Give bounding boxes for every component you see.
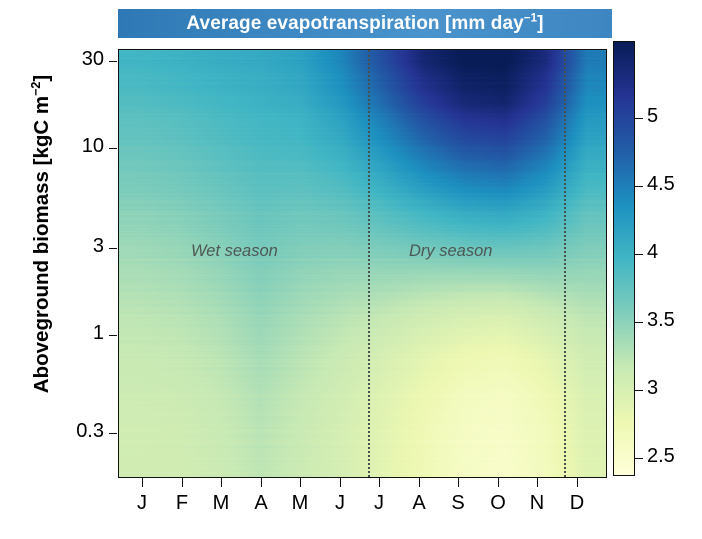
plot-title-main: Average evapotranspiration [mm day: [186, 13, 523, 34]
y-tick-label-30: 30: [30, 48, 104, 71]
x-tick-mark-9: [498, 478, 499, 487]
x-tick-mark-7: [419, 478, 420, 487]
colorbar-tick-label-3.5: 3.5: [647, 309, 675, 332]
heatmap-canvas: [119, 50, 606, 477]
x-tick-mark-1: [182, 478, 183, 487]
x-tick-label-1: F: [167, 492, 197, 515]
x-tick-mark-8: [458, 478, 459, 487]
y-tick-label-3: 3: [30, 235, 104, 258]
colorbar-tick-mark-4: [635, 254, 643, 255]
x-tick-label-4: M: [285, 492, 315, 515]
y-tick-mark-0.3: [109, 433, 117, 434]
plot-title-banner: Average evapotranspiration [mm day−1]: [118, 9, 612, 38]
x-tick-mark-2: [221, 478, 222, 487]
colorbar-panel: [613, 41, 635, 476]
y-tick-label-10: 10: [30, 135, 104, 158]
heatmap-panel: Wet seasonDry season: [118, 49, 607, 478]
plot-title-exponent: −1: [524, 12, 537, 24]
colorbar-canvas: [614, 42, 634, 475]
x-tick-label-5: J: [325, 492, 355, 515]
x-tick-label-0: J: [127, 492, 157, 515]
colorbar-tick-label-3: 3: [647, 377, 658, 400]
x-tick-label-10: N: [522, 492, 552, 515]
x-tick-label-6: J: [364, 492, 394, 515]
dry-wet-divider: [564, 50, 566, 477]
x-tick-label-9: O: [483, 492, 513, 515]
plot-title-tail: ]: [537, 13, 543, 34]
colorbar-tick-label-5: 5: [647, 105, 658, 128]
x-tick-label-2: M: [206, 492, 236, 515]
x-tick-mark-6: [379, 478, 380, 487]
colorbar-tick-mark-4.5: [635, 186, 643, 187]
x-tick-mark-3: [261, 478, 262, 487]
y-tick-label-1: 1: [30, 322, 104, 345]
colorbar-tick-label-4.5: 4.5: [647, 173, 675, 196]
y-tick-mark-10: [109, 148, 117, 149]
y-axis-label-exponent: −2: [29, 82, 43, 96]
wet-dry-divider: [368, 50, 370, 477]
dry-season-label: Dry season: [409, 242, 492, 261]
x-tick-label-3: A: [246, 492, 276, 515]
colorbar-tick-mark-3.5: [635, 322, 643, 323]
y-tick-mark-3: [109, 248, 117, 249]
colorbar-tick-mark-2.5: [635, 458, 643, 459]
colorbar-tick-label-2.5: 2.5: [647, 445, 675, 468]
colorbar-tick-label-4: 4: [647, 241, 658, 264]
x-tick-mark-0: [142, 478, 143, 487]
colorbar-tick-mark-5: [635, 118, 643, 119]
x-tick-label-7: A: [404, 492, 434, 515]
wet-season-label: Wet season: [191, 242, 278, 261]
y-axis-label: Aboveground biomass [kgC m−2]: [30, 24, 54, 444]
x-tick-label-11: D: [562, 492, 592, 515]
x-tick-label-8: S: [443, 492, 473, 515]
evapotranspiration-heatmap-figure: Average evapotranspiration [mm day−1] Ab…: [0, 0, 702, 539]
x-tick-mark-4: [300, 478, 301, 487]
y-axis-label-tail: ]: [30, 75, 53, 82]
x-tick-mark-5: [340, 478, 341, 487]
x-tick-mark-11: [577, 478, 578, 487]
plot-title-text: Average evapotranspiration [mm day−1]: [186, 13, 543, 35]
y-tick-mark-1: [109, 335, 117, 336]
y-tick-label-0.3: 0.3: [30, 420, 104, 443]
y-tick-mark-30: [109, 61, 117, 62]
colorbar-tick-mark-3: [635, 390, 643, 391]
x-tick-mark-10: [537, 478, 538, 487]
